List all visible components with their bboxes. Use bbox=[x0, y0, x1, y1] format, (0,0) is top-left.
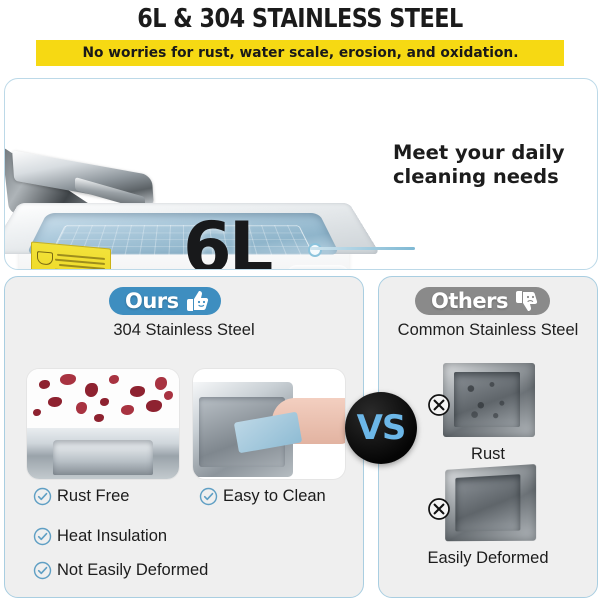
ours-panel: Ours 304 Stainless Steel bbox=[4, 276, 364, 598]
ours-photo-rust-free bbox=[27, 369, 179, 479]
side-handle bbox=[287, 265, 349, 270]
versus-badge: VS bbox=[345, 392, 417, 464]
callout-dot-icon bbox=[308, 243, 322, 257]
feature-not-easily-deformed: Not Easily Deformed bbox=[33, 561, 208, 580]
callout-line bbox=[310, 247, 415, 250]
ours-photo-easy-clean bbox=[193, 369, 345, 479]
others-badge-label: Others bbox=[431, 289, 508, 313]
hero-panel: 6L Meet your daily cleaning needs bbox=[4, 78, 598, 270]
hero-callout-text: Meet your daily cleaning needs bbox=[393, 141, 583, 189]
feature-rust-free: Rust Free bbox=[33, 487, 129, 506]
check-circle-icon bbox=[33, 561, 52, 580]
clean-tank-lower bbox=[27, 428, 179, 479]
infographic-root: 6L & 304 STAINLESS STEEL No worries for … bbox=[0, 0, 600, 600]
feature-label: Easy to Clean bbox=[223, 487, 326, 506]
thumbs-up-icon bbox=[185, 289, 211, 313]
page-title: 6L & 304 STAINLESS STEEL bbox=[42, 4, 558, 34]
others-subtitle: Common Stainless Steel bbox=[379, 321, 597, 340]
feature-easy-to-clean: Easy to Clean bbox=[199, 487, 326, 506]
highlight-banner: No worries for rust, water scale, erosio… bbox=[36, 40, 564, 66]
check-circle-icon bbox=[33, 487, 52, 506]
warning-glyph-top bbox=[37, 251, 53, 265]
others-caption-deformed: Easily Deformed bbox=[379, 549, 597, 568]
check-circle-icon bbox=[199, 487, 218, 506]
ours-badge: Ours bbox=[109, 287, 221, 315]
others-caption-rust: Rust bbox=[379, 445, 597, 464]
ours-badge-label: Ours bbox=[125, 289, 179, 313]
capacity-overlay: 6L bbox=[183, 207, 270, 270]
x-circle-icon bbox=[427, 497, 451, 521]
others-badge: Others bbox=[415, 287, 550, 315]
feature-label: Heat Insulation bbox=[57, 527, 167, 546]
versus-label: VS bbox=[357, 408, 406, 448]
others-photo-deformed bbox=[431, 467, 541, 543]
highlight-banner-text: No worries for rust, water scale, erosio… bbox=[82, 45, 518, 61]
others-photo-rust bbox=[431, 363, 541, 439]
thumbs-down-icon bbox=[514, 289, 540, 313]
check-circle-icon bbox=[33, 527, 52, 546]
x-circle-icon bbox=[427, 393, 451, 417]
feature-heat-insulation: Heat Insulation bbox=[33, 527, 167, 546]
dented-metal-box bbox=[445, 464, 536, 541]
feature-label: Not Easily Deformed bbox=[57, 561, 208, 580]
rust-spots-field bbox=[27, 369, 179, 433]
corroded-metal-box bbox=[443, 363, 535, 437]
feature-label: Rust Free bbox=[57, 487, 129, 506]
ours-subtitle: 304 Stainless Steel bbox=[5, 321, 363, 340]
